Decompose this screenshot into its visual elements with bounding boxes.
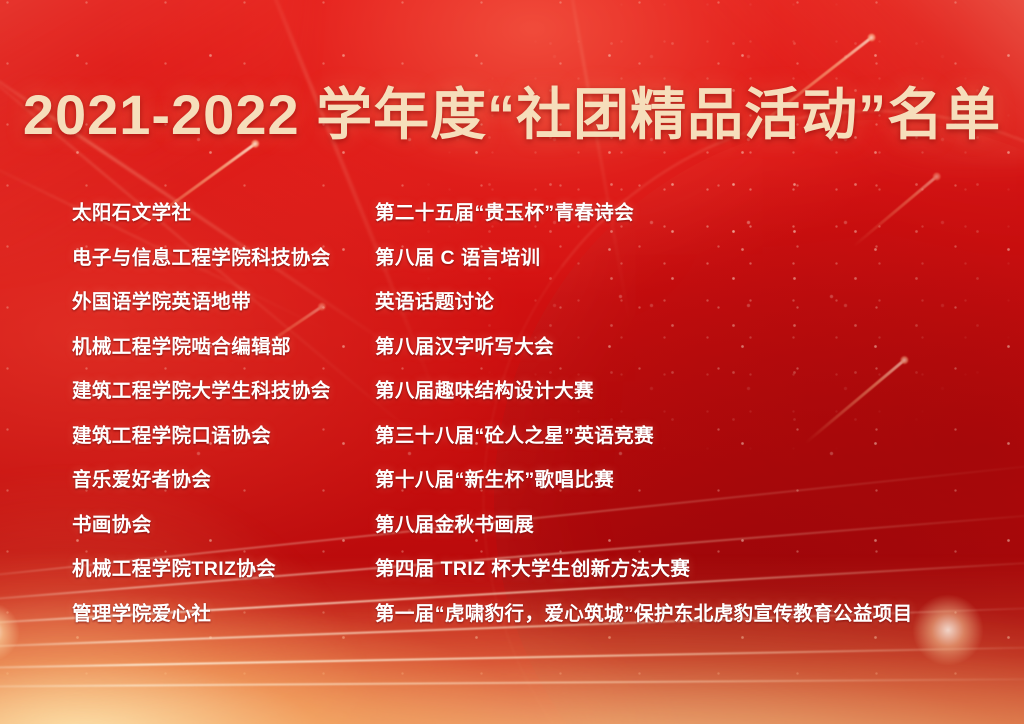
activity-list: 太阳石文学社 第二十五届“贵玉杯”青春诗会 电子与信息工程学院科技协会 第八届 … — [72, 196, 972, 641]
table-row: 电子与信息工程学院科技协会 第八届 C 语言培训 — [72, 241, 972, 286]
table-row: 机械工程学院TRIZ协会 第四届 TRIZ 杯大学生创新方法大赛 — [72, 552, 972, 597]
table-row: 音乐爱好者协会 第十八届“新生杯”歌唱比赛 — [72, 463, 972, 508]
poster-content: 2021-2022 学年度“社团精品活动”名单 太阳石文学社 第二十五届“贵玉杯… — [0, 0, 1024, 724]
poster-canvas: 2021-2022 学年度“社团精品活动”名单 太阳石文学社 第二十五届“贵玉杯… — [0, 0, 1024, 724]
table-row: 机械工程学院啮合编辑部 第八届汉字听写大会 — [72, 330, 972, 375]
club-name: 音乐爱好者协会 — [72, 463, 375, 492]
activity-name: 第八届金秋书画展 — [375, 508, 972, 537]
club-name: 电子与信息工程学院科技协会 — [72, 241, 375, 270]
activity-name: 第二十五届“贵玉杯”青春诗会 — [375, 196, 972, 225]
table-row: 建筑工程学院大学生科技协会 第八届趣味结构设计大赛 — [72, 374, 972, 419]
table-row: 外国语学院英语地带 英语话题讨论 — [72, 285, 972, 330]
table-row: 太阳石文学社 第二十五届“贵玉杯”青春诗会 — [72, 196, 972, 241]
table-row: 管理学院爱心社 第一届“虎啸豹行，爱心筑城”保护东北虎豹宣传教育公益项目 — [72, 597, 972, 642]
activity-name: 第八届趣味结构设计大赛 — [375, 374, 972, 403]
club-name: 太阳石文学社 — [72, 196, 375, 225]
club-name: 机械工程学院啮合编辑部 — [72, 330, 375, 359]
activity-name: 英语话题讨论 — [375, 285, 972, 314]
page-title: 2021-2022 学年度“社团精品活动”名单 — [0, 84, 1024, 147]
club-name: 建筑工程学院口语协会 — [72, 419, 375, 448]
club-name: 建筑工程学院大学生科技协会 — [72, 374, 375, 403]
table-row: 建筑工程学院口语协会 第三十八届“砼人之星”英语竞赛 — [72, 419, 972, 464]
club-name: 外国语学院英语地带 — [72, 285, 375, 314]
activity-name: 第八届 C 语言培训 — [375, 241, 972, 270]
activity-name: 第一届“虎啸豹行，爱心筑城”保护东北虎豹宣传教育公益项目 — [375, 597, 972, 626]
club-name: 管理学院爱心社 — [72, 597, 375, 626]
activity-name: 第四届 TRIZ 杯大学生创新方法大赛 — [375, 552, 972, 581]
activity-name: 第十八届“新生杯”歌唱比赛 — [375, 463, 972, 492]
activity-name: 第八届汉字听写大会 — [375, 330, 972, 359]
table-row: 书画协会 第八届金秋书画展 — [72, 508, 972, 553]
club-name: 机械工程学院TRIZ协会 — [72, 552, 375, 581]
activity-name: 第三十八届“砼人之星”英语竞赛 — [375, 419, 972, 448]
club-name: 书画协会 — [72, 508, 375, 537]
